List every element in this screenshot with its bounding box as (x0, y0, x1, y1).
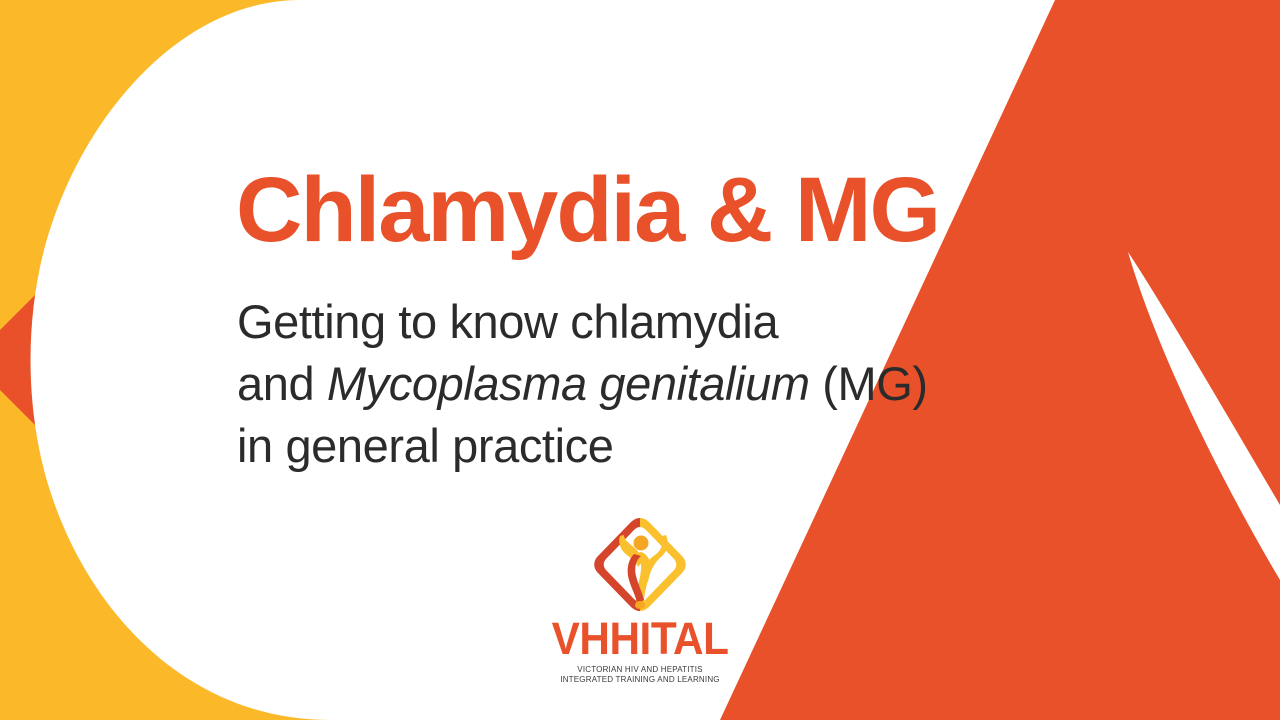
subtitle-text: and (237, 357, 327, 410)
title-block: Chlamydia & MG (236, 164, 1096, 256)
subtitle-text: (MG) (810, 357, 928, 410)
logo-wordmark: VHHITAL (552, 617, 729, 661)
logo-tagline-line-1: VICTORIAN HIV AND HEPATITIS (560, 665, 719, 675)
diamond-figure-logo-icon (584, 512, 696, 616)
logo-block: VHHITAL VICTORIAN HIV AND HEPATITIS INTE… (0, 512, 1280, 685)
subtitle-line-2: and Mycoplasma genitalium (MG) (237, 353, 1117, 415)
figure-head (634, 536, 649, 551)
page-title: Chlamydia & MG (236, 164, 1096, 256)
subtitle-text: Getting to know chlamydia (237, 295, 778, 348)
figure-base (635, 601, 645, 609)
subtitle-line-1: Getting to know chlamydia (237, 291, 1117, 353)
subtitle-line-3: in general practice (237, 415, 1117, 477)
logo-tagline-line-2: INTEGRATED TRAINING AND LEARNING (560, 675, 719, 685)
title-slide: Chlamydia & MG Getting to know chlamydia… (0, 0, 1280, 720)
subtitle-italic-species: Mycoplasma genitalium (327, 357, 810, 410)
logo-tagline: VICTORIAN HIV AND HEPATITIS INTEGRATED T… (560, 665, 719, 685)
subtitle-block: Getting to know chlamydia and Mycoplasma… (237, 291, 1117, 477)
slide-content: Chlamydia & MG Getting to know chlamydia… (0, 0, 1280, 720)
subtitle-text: in general practice (237, 419, 613, 472)
